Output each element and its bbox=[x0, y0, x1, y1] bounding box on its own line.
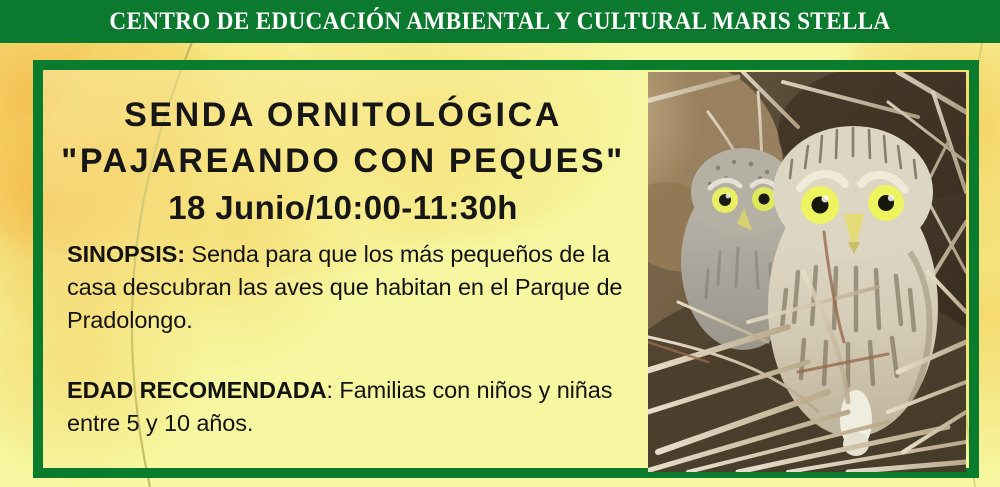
owl-photo bbox=[648, 72, 966, 472]
activity-details: SINOPSIS: Senda para que los más pequeño… bbox=[67, 238, 629, 440]
page-title: CENTRO DE EDUCACIÓN AMBIENTAL Y CULTURAL… bbox=[109, 9, 890, 34]
header-bar: CENTRO DE EDUCACIÓN AMBIENTAL Y CULTURAL… bbox=[0, 0, 1000, 43]
activity-title-line-2: "PAJAREANDO CON PEQUES" bbox=[43, 138, 643, 184]
detail-recommended-age-label: EDAD RECOMENDADA bbox=[67, 377, 327, 403]
text-column: SENDA ORNITOLÓGICA "PAJAREANDO CON PEQUE… bbox=[43, 70, 653, 468]
detail-recommended-age: EDAD RECOMENDADA: Familias con niños y n… bbox=[67, 374, 629, 440]
owl-photo-illustration bbox=[648, 72, 966, 472]
detail-synopsis: SINOPSIS: Senda para que los más pequeño… bbox=[67, 238, 629, 337]
activity-title-block: SENDA ORNITOLÓGICA "PAJAREANDO CON PEQUE… bbox=[43, 92, 643, 230]
activity-date-time: 18 Junio/10:00-11:30h bbox=[43, 186, 643, 230]
activity-title-line-1: SENDA ORNITOLÓGICA bbox=[43, 92, 643, 138]
poster: CENTRO DE EDUCACIÓN AMBIENTAL Y CULTURAL… bbox=[0, 0, 1000, 487]
detail-synopsis-label: SINOPSIS: bbox=[67, 241, 185, 267]
